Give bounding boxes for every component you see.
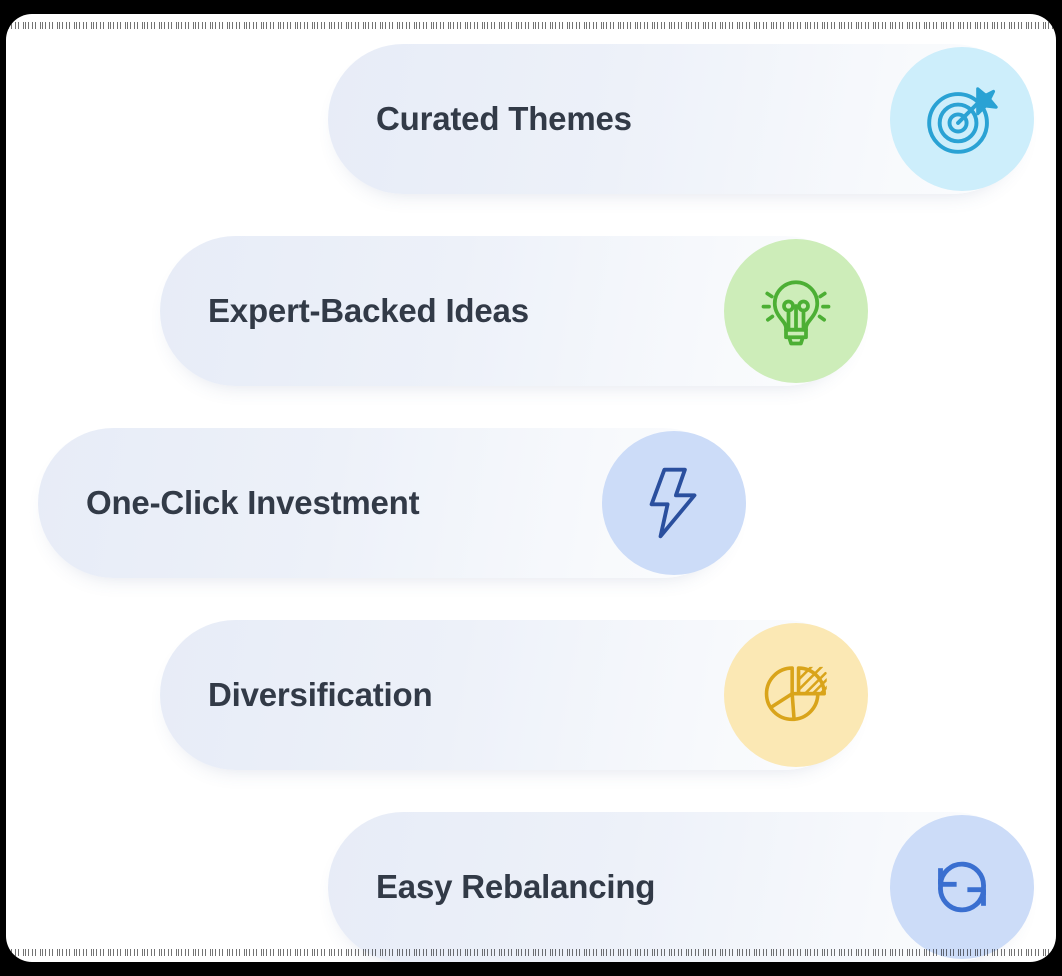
feature-label: Curated Themes: [376, 100, 632, 138]
feature-label: Easy Rebalancing: [376, 868, 655, 906]
feature-row-expert-backed-ideas[interactable]: Expert-Backed Ideas: [160, 236, 900, 386]
feature-icon-badge: [724, 623, 868, 767]
feature-row-curated-themes[interactable]: Curated Themes: [328, 44, 1056, 194]
screenshot-frame: Curated Themes Exper: [0, 0, 1062, 976]
feature-row-one-click-investment[interactable]: One-Click Investment: [38, 428, 778, 578]
feature-icon-badge: [890, 815, 1034, 959]
feature-card: Curated Themes Exper: [6, 14, 1056, 962]
feature-icon-badge: [724, 239, 868, 383]
lightbulb-icon: [756, 271, 836, 351]
feature-row-easy-rebalancing[interactable]: Easy Rebalancing: [328, 812, 1056, 962]
pie-chart-icon: [755, 654, 837, 736]
target-icon: [920, 77, 1004, 161]
feature-row-diversification[interactable]: Diversification: [160, 620, 900, 770]
feature-icon-badge: [890, 47, 1034, 191]
feature-icon-badge: [602, 431, 746, 575]
feature-label: One-Click Investment: [86, 484, 419, 522]
refresh-sync-icon: [919, 844, 1005, 930]
lightning-bolt-icon: [633, 462, 715, 544]
feature-label: Expert-Backed Ideas: [208, 292, 529, 330]
feature-list: Curated Themes Exper: [6, 14, 1056, 962]
feature-label: Diversification: [208, 676, 432, 714]
